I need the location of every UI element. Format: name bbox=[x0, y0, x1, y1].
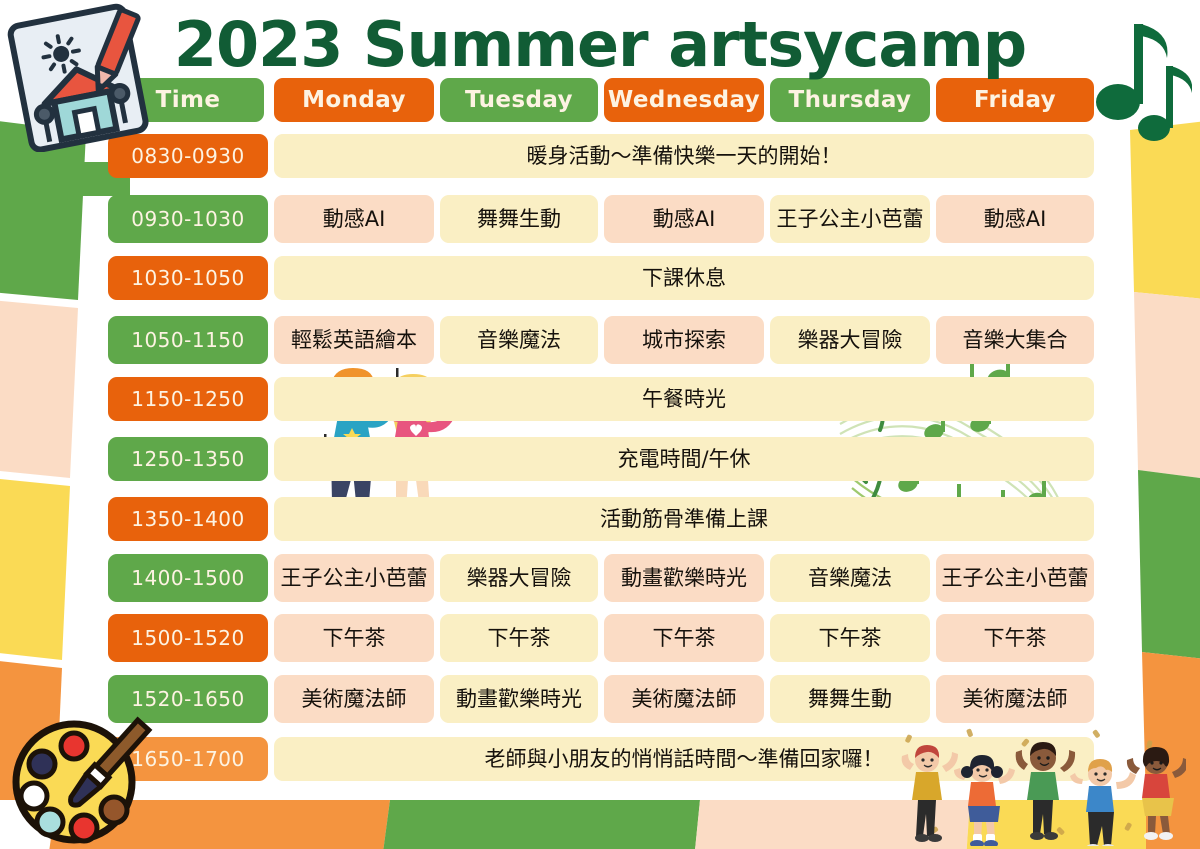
activity-cell: 下午茶 bbox=[604, 614, 764, 662]
activity-cell: 動感AI bbox=[936, 195, 1094, 243]
activity-cell: 舞舞生動 bbox=[770, 675, 930, 723]
childs-drawing-icon bbox=[4, 2, 164, 157]
time-slot-1400-1500: 1400-1500 bbox=[108, 554, 268, 602]
activity-cell: 美術魔法師 bbox=[274, 675, 434, 723]
schedule-table: TimeMondayTuesdayWednesdayThursdayFriday… bbox=[0, 0, 1200, 849]
activity-cell: 音樂大集合 bbox=[936, 316, 1094, 364]
time-slot-1350-1400: 1350-1400 bbox=[108, 497, 268, 541]
activity-cell: 下午茶 bbox=[770, 614, 930, 662]
column-header-monday: Monday bbox=[274, 78, 434, 122]
activity-cell: 舞舞生動 bbox=[440, 195, 598, 243]
activity-cell: 王子公主小芭蕾 bbox=[770, 195, 930, 243]
activity-cell: 音樂魔法 bbox=[440, 316, 598, 364]
activity-cell: 美術魔法師 bbox=[936, 675, 1094, 723]
camp-schedule-poster: 2023 Summer artsycamp TimeMondayTuesdayW… bbox=[0, 0, 1200, 849]
activity-cell: 動畫歡樂時光 bbox=[604, 554, 764, 602]
activity-cell: 樂器大冒險 bbox=[440, 554, 598, 602]
activity-cell: 動感AI bbox=[274, 195, 434, 243]
time-slot-1030-1050: 1030-1050 bbox=[108, 256, 268, 300]
activity-cell-merged: 活動筋骨準備上課 bbox=[274, 497, 1094, 541]
activity-cell-merged: 充電時間/午休 bbox=[274, 437, 1094, 481]
activity-cell: 樂器大冒險 bbox=[770, 316, 930, 364]
activity-cell: 下午茶 bbox=[274, 614, 434, 662]
activity-cell-merged: 午餐時光 bbox=[274, 377, 1094, 421]
time-slot-1500-1520: 1500-1520 bbox=[108, 614, 268, 662]
activity-cell-merged: 下課休息 bbox=[274, 256, 1094, 300]
celebrating-kids-illustration bbox=[896, 726, 1186, 849]
time-slot-1250-1350: 1250-1350 bbox=[108, 437, 268, 481]
activity-cell: 下午茶 bbox=[936, 614, 1094, 662]
activity-cell-merged: 暖身活動～準備快樂一天的開始！ bbox=[274, 134, 1094, 178]
activity-cell: 下午茶 bbox=[440, 614, 598, 662]
column-header-tuesday: Tuesday bbox=[440, 78, 598, 122]
time-slot-0930-1030: 0930-1030 bbox=[108, 195, 268, 243]
activity-cell: 王子公主小芭蕾 bbox=[936, 554, 1094, 602]
activity-cell: 動畫歡樂時光 bbox=[440, 675, 598, 723]
activity-cell: 音樂魔法 bbox=[770, 554, 930, 602]
activity-cell: 動感AI bbox=[604, 195, 764, 243]
page-title: 2023 Summer artsycamp bbox=[0, 8, 1200, 81]
activity-cell: 王子公主小芭蕾 bbox=[274, 554, 434, 602]
time-slot-1150-1250: 1150-1250 bbox=[108, 377, 268, 421]
time-slot-1050-1150: 1050-1150 bbox=[108, 316, 268, 364]
column-header-friday: Friday bbox=[936, 78, 1094, 122]
music-notes-icon bbox=[1096, 6, 1192, 151]
column-header-wednesday: Wednesday bbox=[604, 78, 764, 122]
paint-palette-icon bbox=[6, 710, 156, 849]
activity-cell: 美術魔法師 bbox=[604, 675, 764, 723]
column-header-thursday: Thursday bbox=[770, 78, 930, 122]
activity-cell: 輕鬆英語繪本 bbox=[274, 316, 434, 364]
activity-cell: 城市探索 bbox=[604, 316, 764, 364]
